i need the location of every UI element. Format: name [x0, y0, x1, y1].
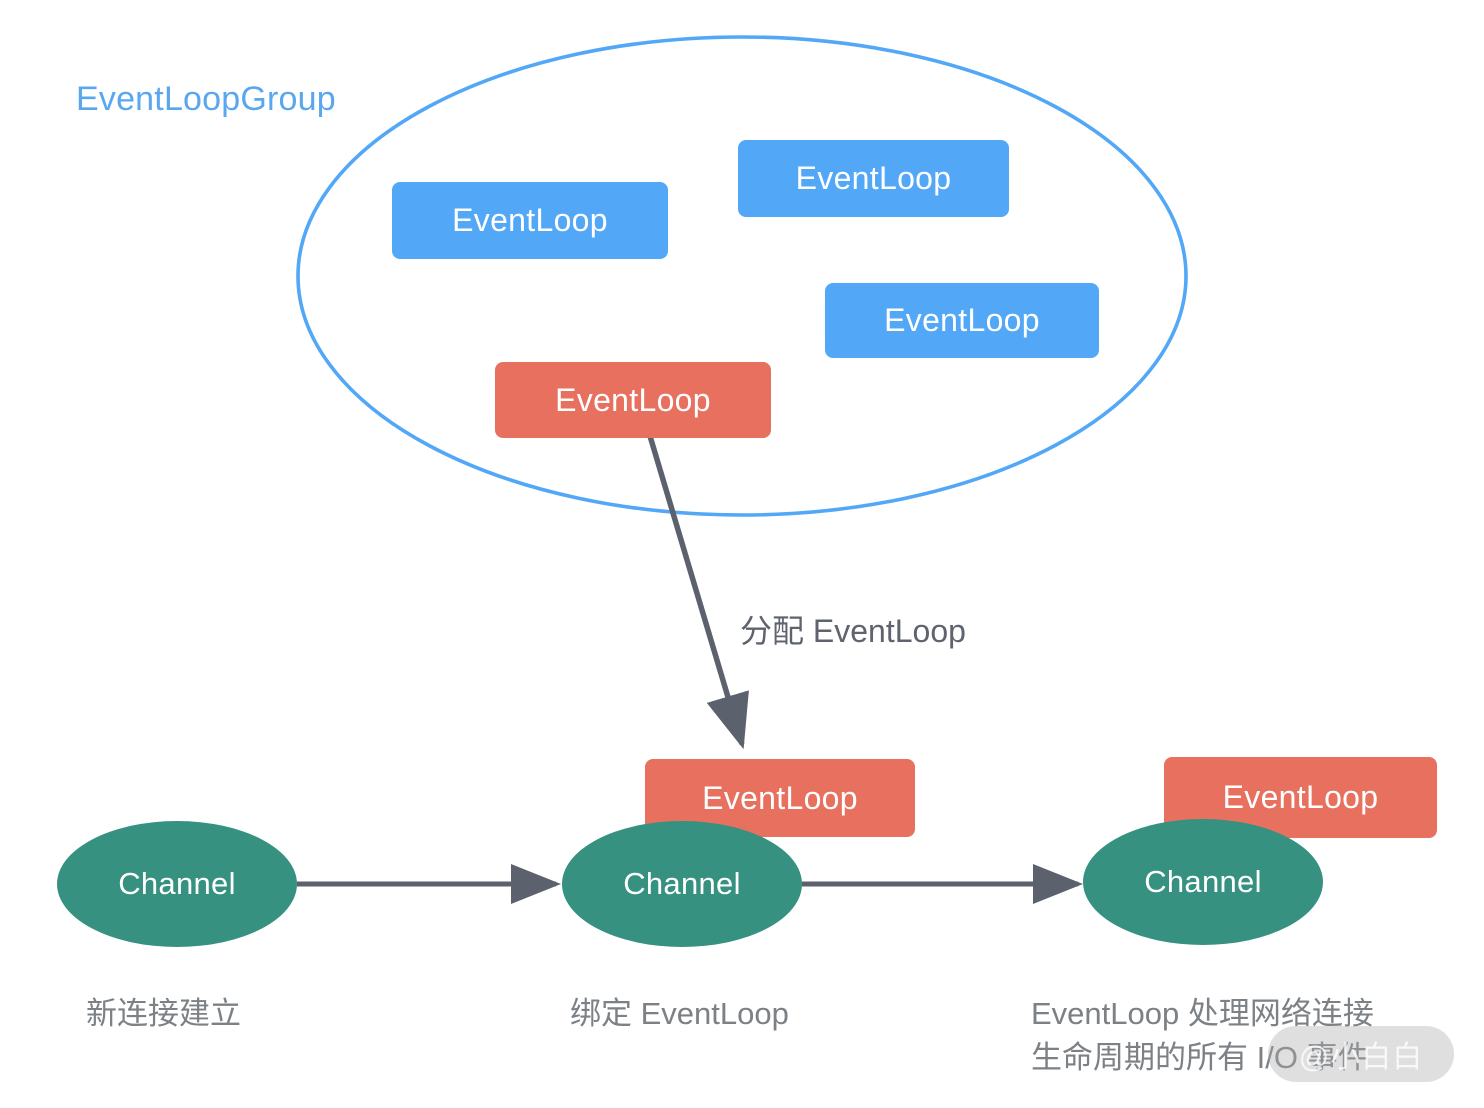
watermark-badge: @小白白 — [1268, 1026, 1454, 1082]
watermark-text: @小白白 — [1299, 1032, 1423, 1076]
diagram-canvas: EventLoopGroup EventLoop EventLoop Event… — [0, 0, 1484, 1108]
eventloop-box-group-1[interactable]: EventLoop — [392, 182, 668, 259]
assign-eventloop-edge-label: 分配 EventLoop — [740, 606, 966, 652]
eventloop-box-group-1-label: EventLoop — [452, 202, 608, 239]
eventloop-box-group-4-label: EventLoop — [555, 382, 711, 419]
assign-eventloop-arrow — [650, 436, 742, 744]
eventloop-box-stage-2-label: EventLoop — [702, 780, 858, 817]
eventloop-box-group-4-selected[interactable]: EventLoop — [495, 362, 771, 438]
eventloop-box-group-2[interactable]: EventLoop — [738, 140, 1009, 217]
caption-stage-2: 绑定 EventLoop — [570, 992, 789, 1036]
eventloop-box-group-3[interactable]: EventLoop — [825, 283, 1099, 358]
channel-node-stage-2[interactable]: Channel — [562, 821, 802, 947]
caption-stage-2-line-1: 绑定 EventLoop — [570, 992, 789, 1036]
eventloop-box-stage-3-label: EventLoop — [1223, 779, 1379, 816]
channel-node-stage-2-label: Channel — [623, 866, 741, 902]
eventloop-box-group-3-label: EventLoop — [884, 302, 1040, 339]
eventloop-box-group-2-label: EventLoop — [796, 160, 952, 197]
channel-node-stage-3-label: Channel — [1144, 864, 1262, 900]
eventloopgroup-boundary-ellipse — [298, 37, 1186, 515]
channel-node-stage-3[interactable]: Channel — [1083, 819, 1323, 945]
caption-stage-1-line-1: 新连接建立 — [86, 992, 241, 1036]
channel-node-stage-1[interactable]: Channel — [57, 821, 297, 947]
caption-stage-1: 新连接建立 — [86, 992, 241, 1036]
channel-node-stage-1-label: Channel — [118, 866, 236, 902]
eventloopgroup-label: EventLoopGroup — [76, 80, 336, 119]
